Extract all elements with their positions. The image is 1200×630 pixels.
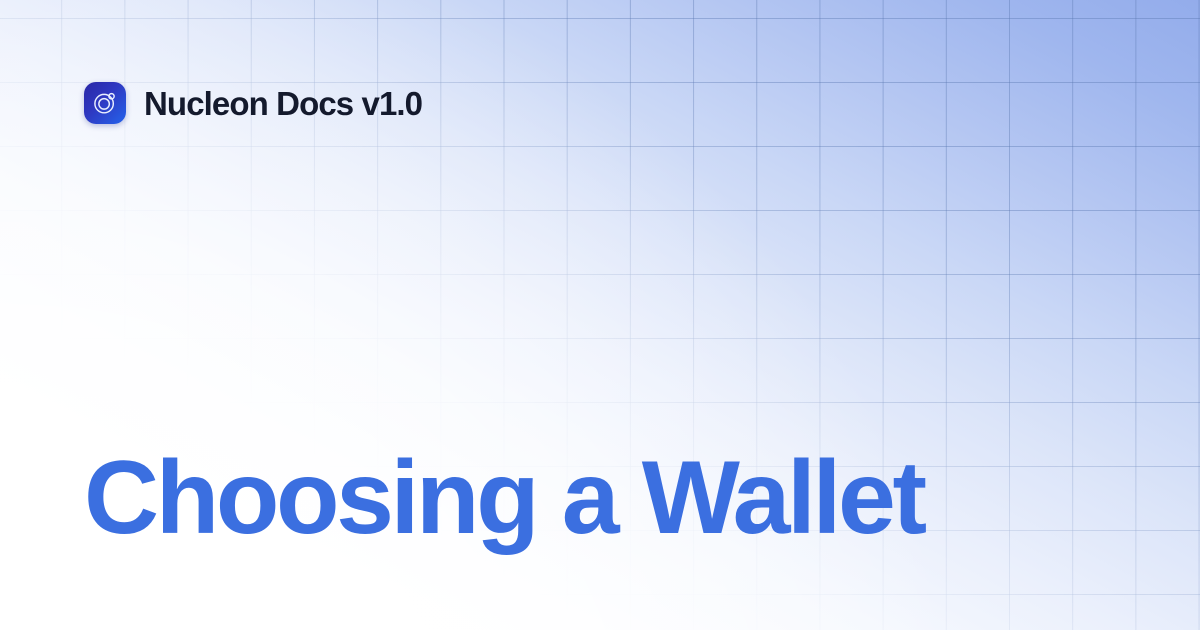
page-title: Choosing a Wallet: [84, 444, 1124, 553]
og-banner: Nucleon Docs v1.0 Choosing a Wallet: [0, 0, 1200, 630]
brand-lockup: Nucleon Docs v1.0: [84, 82, 422, 124]
brand-logo-badge: [84, 82, 126, 124]
orbital-ring-icon: [92, 90, 118, 116]
brand-name-text: Nucleon Docs v1.0: [144, 87, 422, 120]
